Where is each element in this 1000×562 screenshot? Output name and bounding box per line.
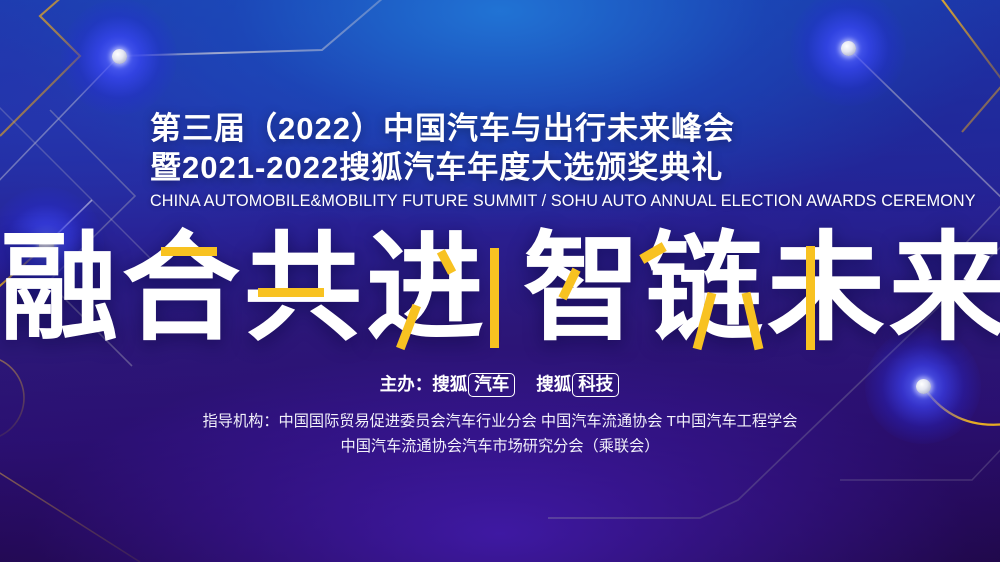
slogan-part-2: 智链未来: [523, 228, 1000, 348]
title-line-2: 暨2021-2022搜狐汽车年度大选颁奖典礼: [150, 142, 723, 187]
host-1-badge: 汽车: [468, 373, 515, 397]
organizer-label: 主办：: [380, 374, 433, 394]
main-slogan: 融合共进 智链未来: [0, 228, 1000, 348]
host-2-name: 搜狐: [536, 374, 571, 394]
guidance-line-2: 中国汽车流通协会汽车市场研究分会（乘联会）: [0, 434, 1000, 456]
organizer-line: 主办：搜狐汽车搜狐科技: [0, 371, 1000, 397]
event-poster: 第三届（2022）中国汽车与出行未来峰会 暨2021-2022搜狐汽车年度大选颁…: [0, 0, 1000, 562]
host-1-name: 搜狐: [432, 374, 467, 394]
guidance-line-1: 指导机构：中国国际贸易促进委员会汽车行业分会 中国汽车流通协会 T中国汽车工程学…: [0, 409, 1000, 431]
slogan-part-1: 融合共进: [0, 228, 488, 348]
subtitle-english: CHINA AUTOMOBILE&MOBILITY FUTURE SUMMIT …: [150, 192, 976, 211]
host-2-badge: 科技: [572, 373, 619, 397]
